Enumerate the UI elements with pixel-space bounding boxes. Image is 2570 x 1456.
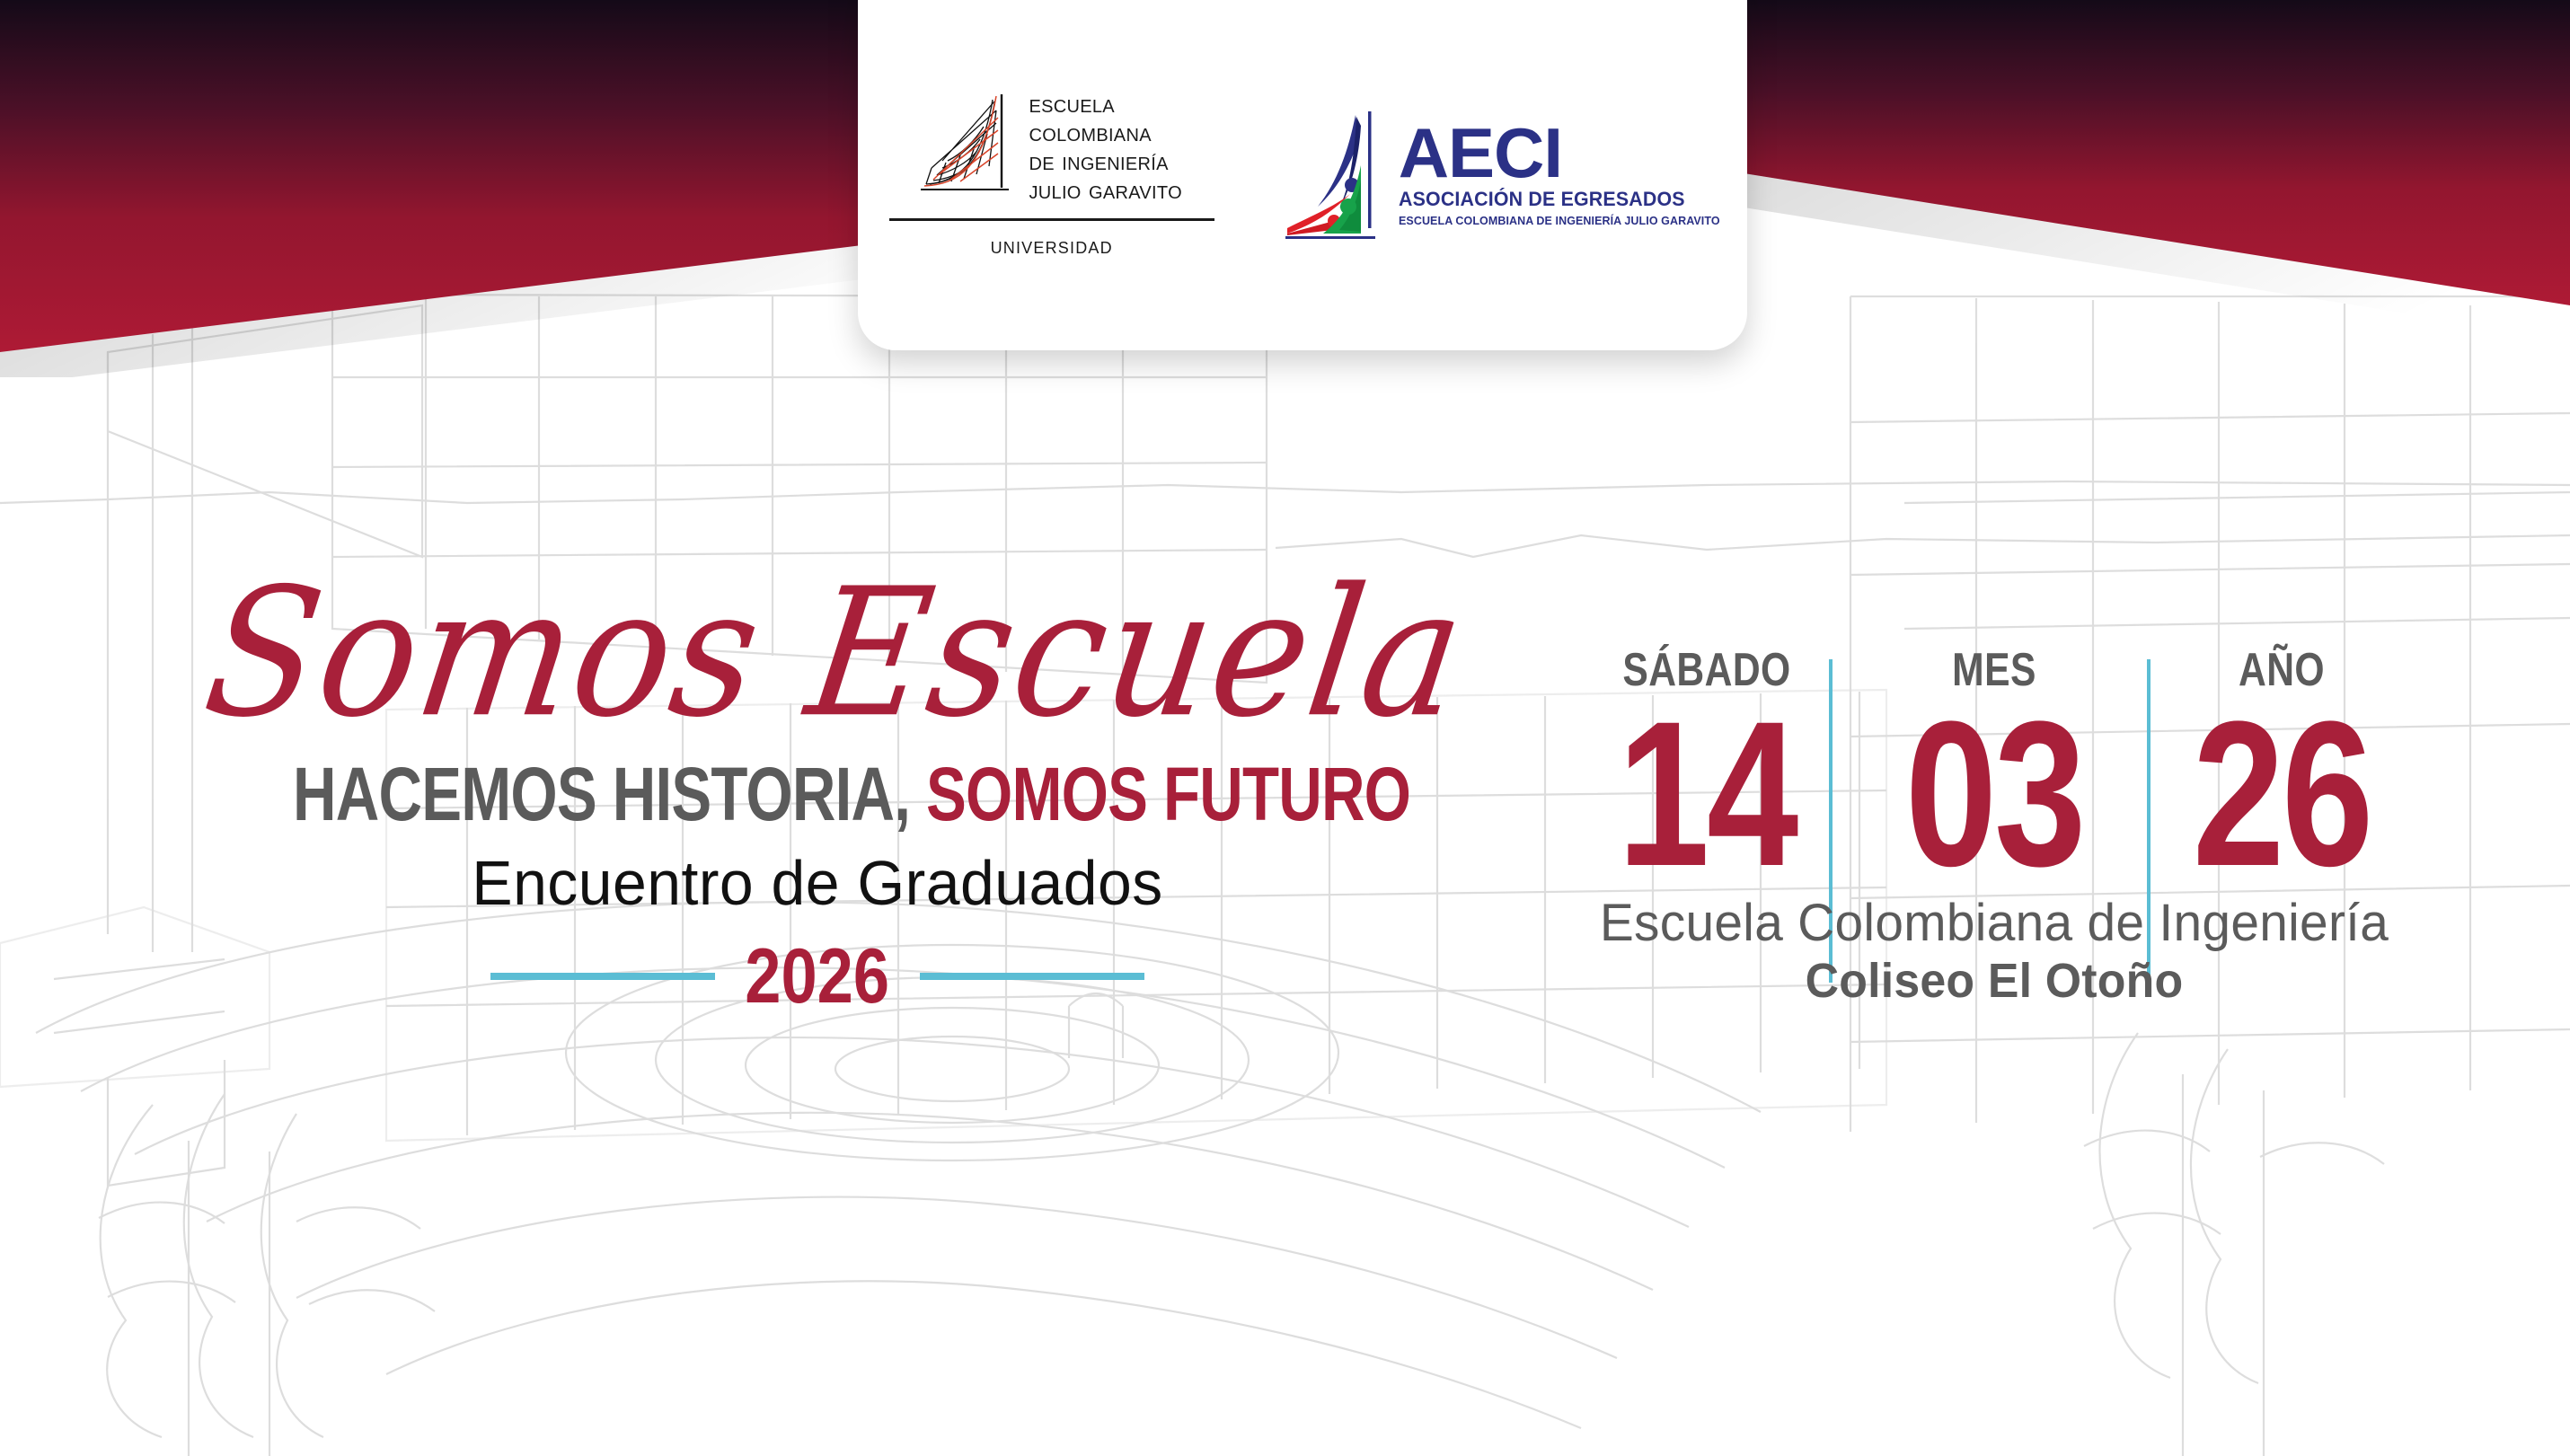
date-value-month: 03 (1879, 699, 2109, 889)
date-grid: SÁBADO 14 MES 03 AÑO 26 (1563, 647, 2425, 889)
university-logo-divider (889, 218, 1214, 221)
aeci-acronym: AECI (1399, 123, 1734, 183)
year-rule-right (920, 973, 1144, 980)
university-logo-footer: Universidad (991, 232, 1113, 260)
eci-curve-grid-icon (921, 91, 1016, 197)
date-cell-month: MES 03 (1850, 647, 2138, 889)
headline-block: Somos Escuela HACEMOS HISTORIA, SOMOS FU… (162, 575, 1473, 1015)
university-logo: Escuela Colombiana de Ingeniería Julio G… (872, 91, 1232, 260)
aeci-figures-icon (1285, 108, 1393, 243)
logo-card: Escuela Colombiana de Ingeniería Julio G… (858, 0, 1747, 350)
kicker-red-text: SOMOS FUTURO (926, 752, 1410, 836)
venue-line-1: Escuela Colombiana de Ingeniería (1572, 896, 2417, 951)
event-subtitle: Encuentro de Graduados (181, 852, 1453, 914)
date-block: SÁBADO 14 MES 03 AÑO 26 Escuela Colombia… (1563, 647, 2425, 1007)
script-title: Somos Escuela (172, 565, 1498, 742)
event-year: 2026 (732, 938, 904, 1015)
university-logo-line-1: Escuela (1029, 91, 1181, 119)
event-poster: Escuela Colombiana de Ingeniería Julio G… (0, 0, 2570, 1456)
banner-left-red (0, 0, 970, 377)
date-value-year: 26 (2167, 699, 2397, 889)
aeci-caption: ESCUELA COLOMBIANA DE INGENIERÍA JULIO G… (1399, 214, 1720, 227)
date-cell-day: SÁBADO 14 (1563, 647, 1850, 889)
university-logo-line-2: Colombiana (1029, 119, 1181, 148)
year-row: 2026 (162, 938, 1473, 1015)
university-logo-line-4: Julio Garavito (1029, 177, 1181, 206)
university-logo-line-3: de Ingeniería (1029, 148, 1181, 177)
date-value-day: 14 (1592, 699, 1822, 889)
venue-line-2: Coliseo El Otoño (1580, 956, 2408, 1007)
year-rule-left (490, 973, 715, 980)
kicker-grey-text: HACEMOS HISTORIA, (293, 752, 910, 836)
aeci-subtitle: ASOCIACIÓN DE EGRESADOS (1399, 188, 1723, 211)
kicker-line: HACEMOS HISTORIA, SOMOS FUTURO (293, 756, 1342, 832)
date-cell-year: AÑO 26 (2138, 647, 2425, 889)
aeci-logo: AECI ASOCIACIÓN DE EGRESADOS ESCUELA COL… (1285, 108, 1734, 243)
